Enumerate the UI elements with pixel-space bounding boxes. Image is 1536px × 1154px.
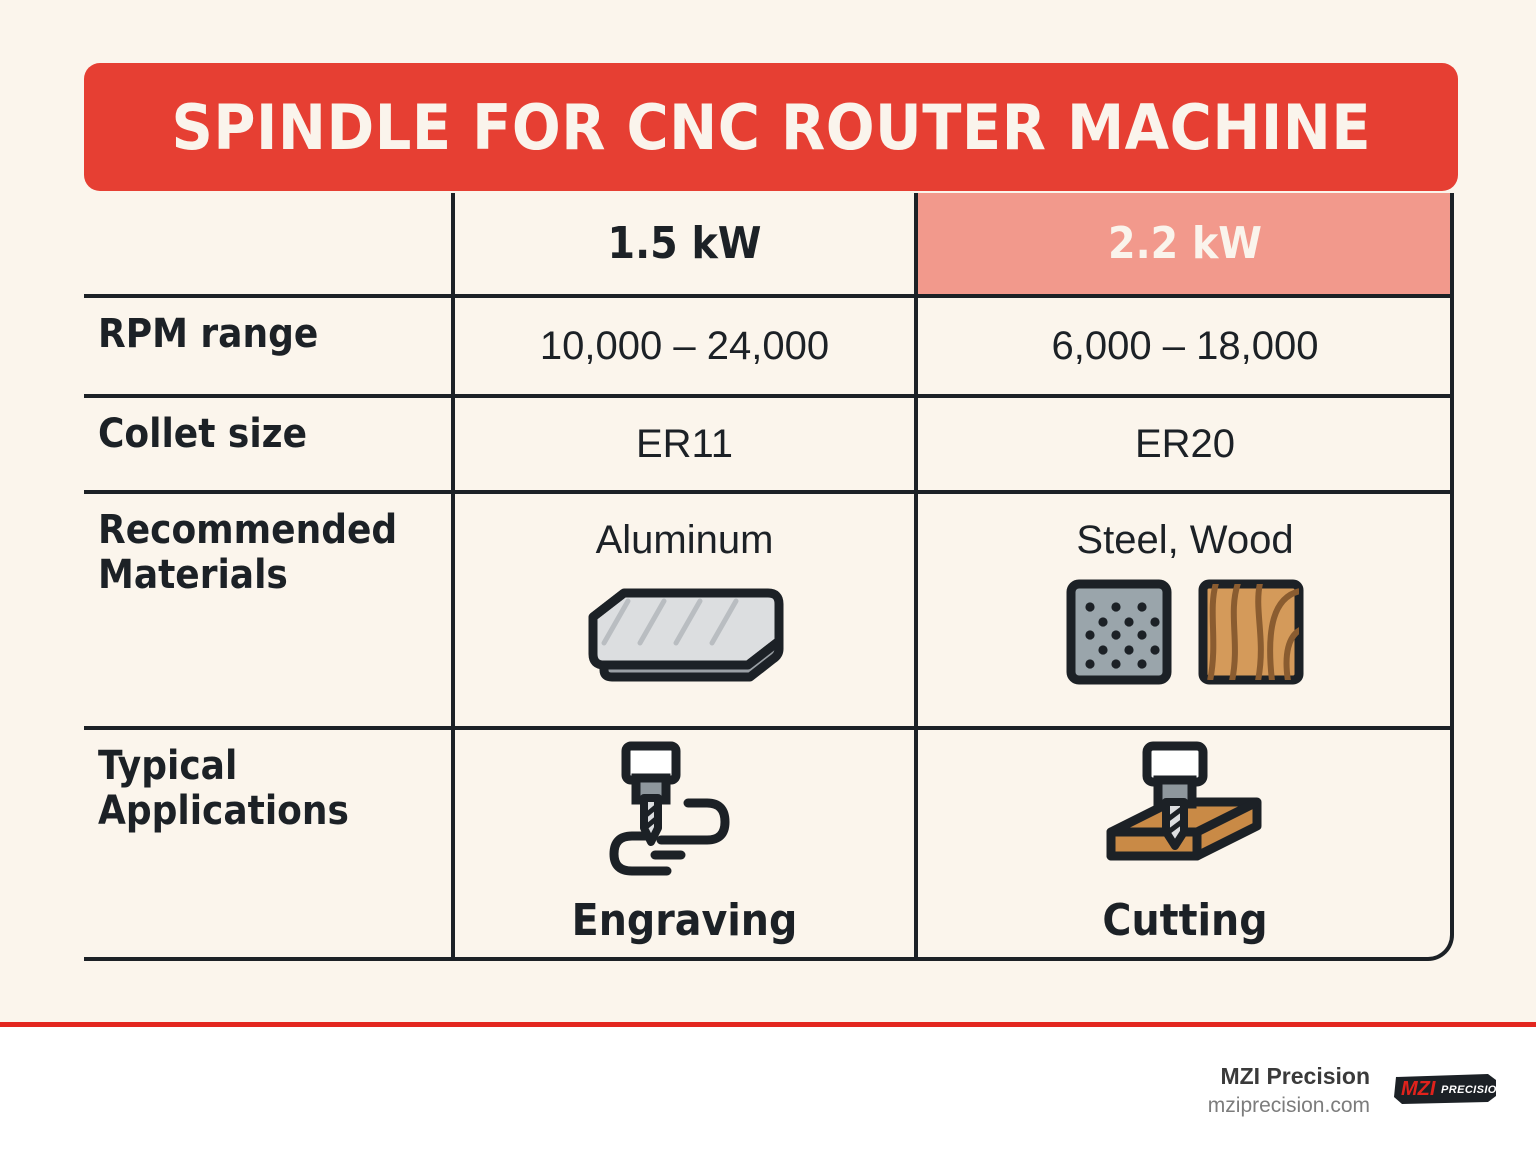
footer-company-name: MZI Precision	[1208, 1061, 1370, 1092]
wood-plank-icon	[1196, 577, 1306, 692]
table-row: Recommended Materials Aluminum	[84, 492, 1454, 728]
row-label-recommended-materials: Recommended Materials	[84, 492, 453, 728]
header-cell-1-5kw: 1.5 kW	[453, 193, 916, 296]
table-row: RPM range 10,000 – 24,000 6,000 – 18,000	[84, 296, 1454, 396]
cell-collet-1-5kw: ER11	[453, 396, 916, 492]
material-icons-1-5kw	[572, 577, 798, 700]
aluminum-slab-icon	[572, 577, 798, 700]
row-label-typical-applications: Typical Applications	[84, 728, 453, 961]
application-icon-wrap-1-5kw	[585, 740, 785, 895]
header-cell-blank	[84, 193, 453, 296]
cell-materials-1-5kw: Aluminum	[453, 492, 916, 728]
steel-plate-icon	[1064, 577, 1174, 692]
spindle-cutting-icon	[1085, 740, 1285, 895]
header-cell-2-2kw: 2.2 kW	[916, 193, 1454, 296]
header-label-1-5kw: 1.5 kW	[608, 193, 762, 294]
title-banner: SPINDLE FOR CNC ROUTER MACHINE	[84, 63, 1458, 191]
cell-rpm-2-2kw: 6,000 – 18,000	[916, 296, 1454, 396]
table-row: Typical Applications	[84, 728, 1454, 961]
spindle-engraving-icon	[585, 740, 785, 895]
footer-text-block: MZI Precision mziprecision.com	[1208, 1061, 1370, 1120]
application-name-engraving: Engraving	[572, 895, 798, 946]
logo-mzi-text: MZI	[1401, 1078, 1436, 1100]
material-name-aluminum: Aluminum	[596, 518, 774, 563]
cell-applications-1-5kw: Engraving	[453, 728, 916, 961]
table-row: Collet size ER11 ER20	[84, 396, 1454, 492]
cell-materials-2-2kw: Steel, Wood	[916, 492, 1454, 728]
cell-collet-2-2kw: ER20	[916, 396, 1454, 492]
row-label-collet-size: Collet size	[84, 396, 453, 492]
row-label-rpm-range: RPM range	[84, 296, 453, 396]
logo-precision-text: PRECISION	[1441, 1084, 1500, 1096]
cell-rpm-1-5kw: 10,000 – 24,000	[453, 296, 916, 396]
page-footer: MZI Precision mziprecision.com MZI PRECI…	[0, 1027, 1536, 1154]
material-icons-2-2kw	[1064, 577, 1306, 692]
infographic-root: SPINDLE FOR CNC ROUTER MACHINE 1.5 kW 2.…	[0, 0, 1536, 1154]
cell-applications-2-2kw: Cutting	[916, 728, 1454, 961]
header-label-2-2kw: 2.2 kW	[1108, 193, 1262, 294]
application-name-cutting: Cutting	[1102, 895, 1267, 946]
page-title: SPINDLE FOR CNC ROUTER MACHINE	[171, 91, 1371, 164]
application-icon-wrap-2-2kw	[1085, 740, 1285, 895]
table-header-row: 1.5 kW 2.2 kW	[84, 193, 1454, 296]
footer-website-url[interactable]: mziprecision.com	[1208, 1092, 1370, 1120]
material-name-steel-wood: Steel, Wood	[1076, 518, 1293, 563]
comparison-table: 1.5 kW 2.2 kW RPM range 10,000 – 24,000	[84, 193, 1454, 961]
mzi-precision-logo[interactable]: MZI PRECISION	[1392, 1068, 1500, 1113]
